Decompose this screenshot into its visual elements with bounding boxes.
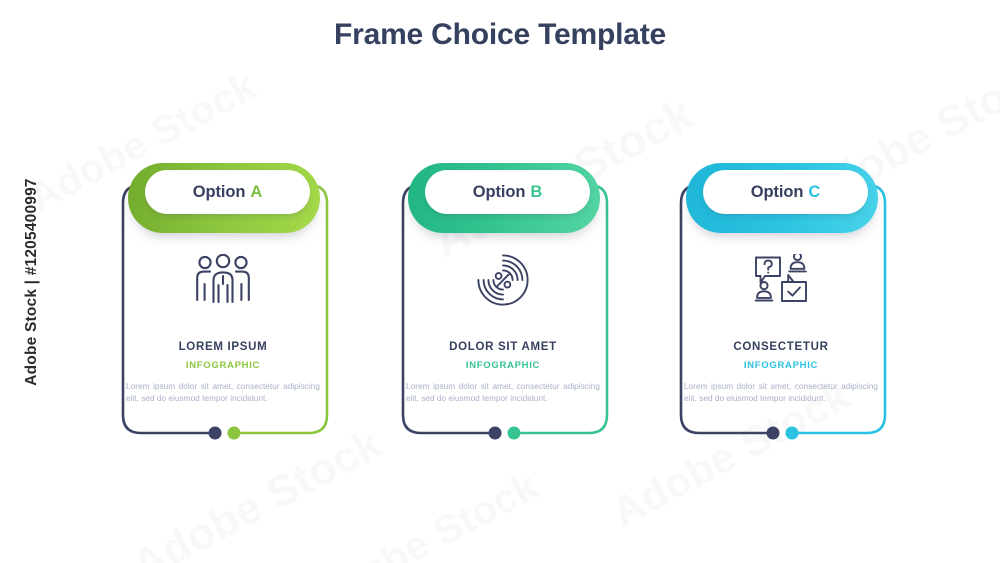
- card-heading-a: LOREM IPSUM: [179, 341, 268, 353]
- option-card-b[interactable]: Option B: [383, 163, 623, 458]
- stock-credit-text: Adobe Stock | #1205400997: [23, 178, 41, 386]
- card-description-c: Lorem ipsum dolor sit amet, consectetur …: [681, 380, 881, 404]
- card-body-c: CONSECTETUR INFOGRAPHIC Lorem ipsum dolo…: [673, 235, 889, 435]
- three-people-icon: [192, 247, 254, 313]
- option-badge-a-label: Option: [193, 183, 246, 202]
- card-heading-c: CONSECTETUR: [733, 341, 828, 353]
- page-title: Frame Choice Template: [0, 18, 1000, 52]
- card-subheading-a: INFOGRAPHIC: [186, 360, 260, 371]
- watermark-text: Adobe Stock: [304, 464, 546, 563]
- option-badge-c-label: Option: [751, 183, 804, 202]
- card-subheading-b: INFOGRAPHIC: [466, 360, 540, 371]
- options-row: Option A: [0, 163, 1000, 463]
- option-badge-c-inner: Option C: [703, 170, 868, 214]
- card-body-b: DOLOR SIT AMET INFOGRAPHIC Lorem ipsum d…: [395, 235, 611, 435]
- option-badge-c[interactable]: Option C: [686, 163, 878, 233]
- option-badge-b-letter: B: [530, 183, 542, 202]
- option-card-c[interactable]: Option C: [661, 163, 901, 458]
- option-badge-a-inner: Option A: [145, 170, 310, 214]
- option-badge-b-label: Option: [473, 183, 526, 202]
- card-description-a: Lorem ipsum dolor sit amet, consectetur …: [123, 380, 323, 404]
- question-answer-icon: [752, 247, 810, 313]
- card-description-b: Lorem ipsum dolor sit amet, consectetur …: [403, 380, 603, 404]
- stock-credit: Adobe Stock | #1205400997: [10, 0, 54, 563]
- option-badge-c-letter: C: [808, 183, 820, 202]
- option-badge-a-letter: A: [250, 183, 262, 202]
- card-body-a: LOREM IPSUM INFOGRAPHIC Lorem ipsum dolo…: [115, 235, 331, 435]
- option-badge-b-inner: Option B: [425, 170, 590, 214]
- percent-circle-icon: [475, 247, 531, 313]
- card-heading-b: DOLOR SIT AMET: [449, 341, 557, 353]
- option-badge-b[interactable]: Option B: [408, 163, 600, 233]
- card-subheading-c: INFOGRAPHIC: [744, 360, 818, 371]
- option-card-a[interactable]: Option A: [103, 163, 343, 458]
- option-badge-a[interactable]: Option A: [128, 163, 320, 233]
